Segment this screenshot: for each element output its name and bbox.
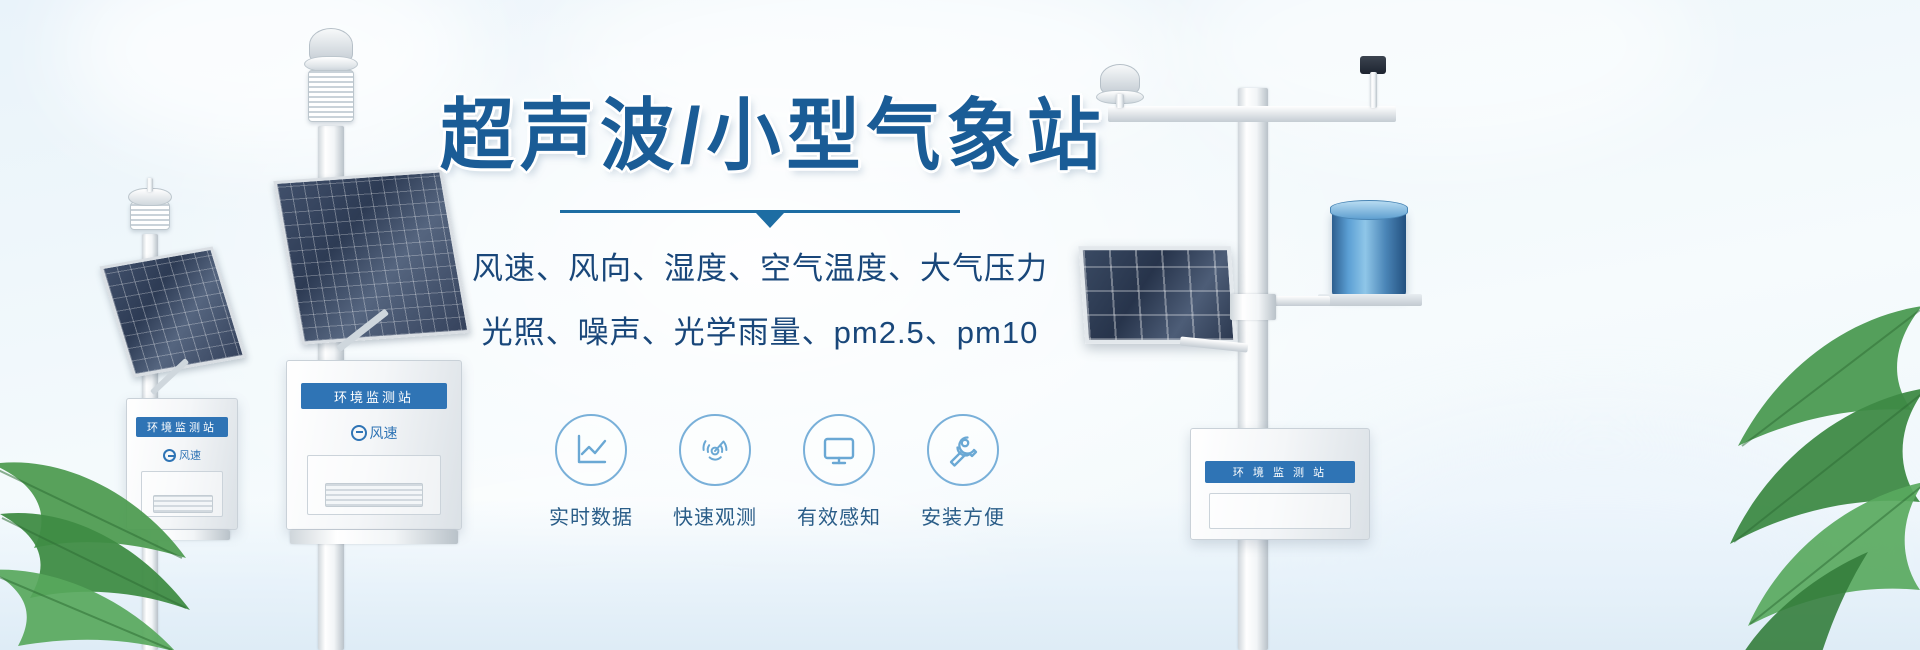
feature-list: 实时数据 快速观测: [542, 414, 1012, 530]
weather-station-right: 环 境 监 测 站: [1060, 50, 1480, 650]
feature-label: 有效感知: [790, 501, 888, 530]
sensor-mast: [1116, 94, 1124, 108]
cross-arm: [1108, 106, 1396, 122]
brand-logo: 风速: [287, 423, 461, 443]
pole-collar: [1230, 294, 1276, 320]
rain-gauge: [1332, 210, 1406, 296]
radiation-shield: [130, 202, 170, 230]
title-divider: [560, 210, 960, 230]
palm-leaf-decoration: [1616, 296, 1920, 650]
cabinet-label: 环境监测站: [301, 383, 447, 409]
brand-mark-icon: [351, 425, 367, 441]
line-chart-icon: [571, 430, 611, 470]
feature-label: 快速观测: [666, 501, 764, 530]
rain-gauge-funnel: [1330, 200, 1408, 220]
feature-item-fast-observation[interactable]: 快速观测: [666, 414, 764, 530]
radiation-shield: [308, 70, 354, 122]
page-title: 超声波/小型气象站: [440, 94, 1080, 179]
divider-triangle-icon: [756, 213, 784, 228]
feature-icon-circle: [927, 414, 999, 486]
feature-label: 安装方便: [914, 501, 1012, 530]
subtitle-line-1: 风速、风向、湿度、空气温度、大气压力: [440, 244, 1080, 294]
brand-name: 风速: [370, 423, 398, 443]
solar-panel: [99, 247, 246, 378]
radar-signal-icon: [695, 430, 735, 470]
feature-item-realtime-data[interactable]: 实时数据: [542, 414, 640, 530]
subtitle-line-2: 光照、噪声、光学雨量、pm2.5、pm10: [440, 308, 1080, 358]
wrench-icon: [943, 430, 983, 470]
sensor-mast: [147, 178, 153, 192]
feature-icon-circle: [803, 414, 875, 486]
equipment-cabinet: 环 境 监 测 站: [1190, 428, 1370, 540]
solar-panel-array: [1078, 246, 1237, 344]
feature-item-easy-installation[interactable]: 安装方便: [914, 414, 1012, 530]
palm-leaf-decoration: [0, 440, 230, 650]
product-banner: 环境监测站 风速 环境监测站 风速: [0, 0, 1920, 650]
banner-text-block: 超声波/小型气象站 风速、风向、湿度、空气温度、大气压力 光照、噪声、光学雨量、…: [440, 96, 1080, 358]
feature-icon-circle: [679, 414, 751, 486]
feature-icon-circle: [555, 414, 627, 486]
monitor-icon: [819, 430, 859, 470]
cabinet-door: [1209, 493, 1351, 529]
cabinet-label: 环境监测站: [136, 417, 228, 437]
sensor-mast: [1370, 72, 1377, 108]
equipment-cabinet: 环境监测站 风速: [286, 360, 462, 530]
rain-gauge-shelf: [1318, 294, 1422, 306]
cabinet-label: 环 境 监 测 站: [1205, 461, 1355, 483]
station-pole: [1238, 88, 1268, 650]
cabinet-base: [290, 530, 458, 544]
cabinet-vent: [325, 483, 423, 507]
feature-item-effective-sensing[interactable]: 有效感知: [790, 414, 888, 530]
feature-label: 实时数据: [542, 501, 640, 530]
